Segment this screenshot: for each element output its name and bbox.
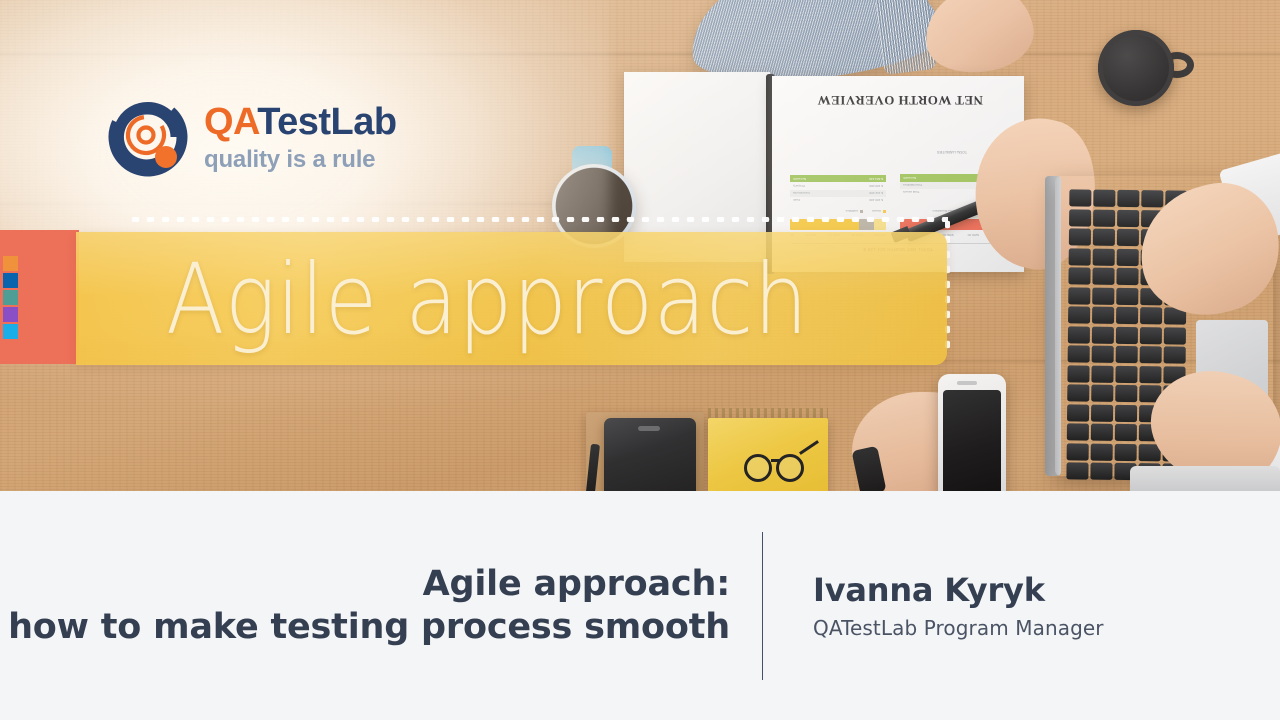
logo-tagline: quality is a rule: [204, 146, 397, 174]
dark-mug: [1098, 30, 1174, 106]
talk-title-line-1: Agile approach:: [0, 563, 730, 606]
logo-name-qa: QA: [204, 101, 257, 143]
report-legend-right: Assets Liabilities: [846, 209, 886, 214]
swatch-purple: [3, 307, 18, 322]
report-row: $ 188,000Property: [790, 182, 886, 189]
speaker-info: Ivanna Kyryk QATestLab Program Manager: [763, 571, 1104, 639]
presentation-slide: TOTAL NET WORTH 324,129 $ $100.00 $200.0…: [0, 0, 1280, 720]
qatestlab-at-mark-icon: [108, 97, 188, 177]
logo-wordmark: QATestLab quality is a rule: [204, 101, 397, 174]
qatestlab-logo[interactable]: QATestLab quality is a rule: [108, 97, 397, 177]
report-rows-right: $ 180,100Cash $ 112,400Investments $ 188…: [790, 175, 886, 204]
swatch-blue: [3, 273, 18, 288]
talk-title-line-2: how to make testing process smooth: [0, 606, 730, 649]
footer-bar: Agile approach: how to make testing proc…: [0, 491, 1280, 720]
logo-name: QATestLab: [204, 103, 397, 141]
swatch-orange: [3, 256, 18, 271]
swatch-cyan: [3, 324, 18, 339]
horizontal-dotted-line: [128, 217, 948, 222]
speaker-role: QATestLab Program Manager: [813, 616, 1104, 640]
talk-title: Agile approach: how to make testing proc…: [0, 563, 762, 648]
color-swatch-strip: [3, 256, 18, 339]
smartphone-screen: [943, 390, 1001, 491]
eyeglasses: [744, 444, 810, 484]
second-laptop-edge: [1130, 466, 1280, 491]
smartphone-earpiece: [957, 381, 977, 385]
slide-title: Agile approach: [166, 238, 835, 360]
logo-name-testlab: TestLab: [257, 101, 396, 143]
report-row: $ 324,129Net worth: [790, 175, 886, 182]
report-row: $ 180,100Cash: [790, 197, 886, 204]
speaker-name: Ivanna Kyryk: [813, 571, 1104, 610]
tablet-speaker: [638, 426, 660, 431]
swatch-teal: [3, 290, 18, 305]
report-row: $ 112,400Investments: [790, 190, 886, 197]
report-big-label: NET WORTH OVERVIEW: [782, 92, 1018, 108]
